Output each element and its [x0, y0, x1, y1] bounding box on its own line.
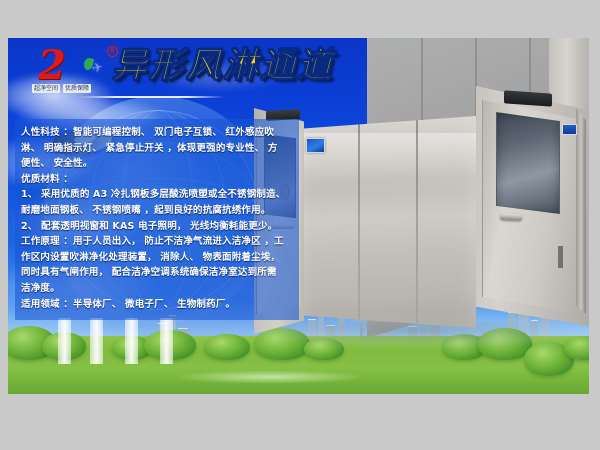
panel-highlight: [300, 133, 476, 192]
product-banner-image: ✈ ✈ ✈: [8, 38, 589, 394]
screenshot-canvas: ✈ ✈ ✈: [0, 0, 600, 450]
white-pillar: [58, 318, 71, 364]
copy-line: 人性科技 ：智能可编程控制、 双门电子互锁、 红外感应吹: [21, 125, 293, 141]
logo-tagline: 超净空间 优质保障: [32, 84, 91, 93]
right-door-window: [496, 112, 560, 214]
copy-line: 便性、 安全性。: [21, 156, 293, 172]
company-logo: 2 R 超净空间 优质保障: [30, 46, 120, 98]
logo-tagline-right: 优质保障: [63, 84, 91, 93]
copy-line: 同时具有气闸作用， 配合洁净空调系统确保洁净室达到所需: [21, 265, 293, 281]
title-underline: [78, 96, 224, 98]
logo-tagline-left: 超净空间: [32, 84, 60, 93]
copy-line: 1、 采用优质的 A3 冷扎钢板多层酸洗喷塑或全不锈钢制造、: [21, 187, 293, 203]
right-door-handle: [500, 213, 522, 220]
white-pillar: [125, 318, 138, 364]
product-photo-air-shower: [300, 86, 589, 348]
panel-seam: [358, 116, 360, 328]
copy-line: 洁净度。: [21, 281, 293, 297]
control-panel-label: [306, 138, 325, 153]
tree-graphic: [204, 334, 250, 360]
copy-line: 作区内设置吹淋净化处理装置， 消除人、 物表面附着尘埃，: [21, 250, 293, 266]
right-door-slot: [558, 246, 563, 268]
white-pillar: [160, 318, 173, 364]
right-frame-edge: [576, 108, 586, 314]
copy-line: 淋、 明确指示灯、 紧急停止开关 ，体现更强的专业性、 方: [21, 141, 293, 157]
copy-line: 2、 配套透明视窗和 KAS 电子照明， 光线均衡耗能更少。: [21, 219, 293, 235]
white-pillar: [90, 318, 103, 364]
air-shower-side-panel: [300, 116, 476, 328]
copy-line: 适用领域 ：半导体厂、 微电子厂、 生物制药厂。: [21, 297, 293, 313]
page-title: 异形风淋通道: [112, 44, 334, 88]
description-panel: 人性科技 ：智能可编程控制、 双门电子互锁、 红外感应吹 淋、 明确指示灯、 紧…: [15, 119, 299, 320]
copy-line: 工作原理 ：用于人员出入， 防止不洁净气流进入洁净区 ，工: [21, 234, 293, 250]
copy-line: 耐磨地面钢板、 不锈钢喷嘴 ，起到良好的抗腐抗绣作用。: [21, 203, 293, 219]
product-floor-shadow: [254, 322, 584, 348]
right-vent-label: [562, 124, 577, 135]
copy-line: 优质材料 ：: [21, 172, 293, 188]
panel-seam: [416, 116, 418, 328]
